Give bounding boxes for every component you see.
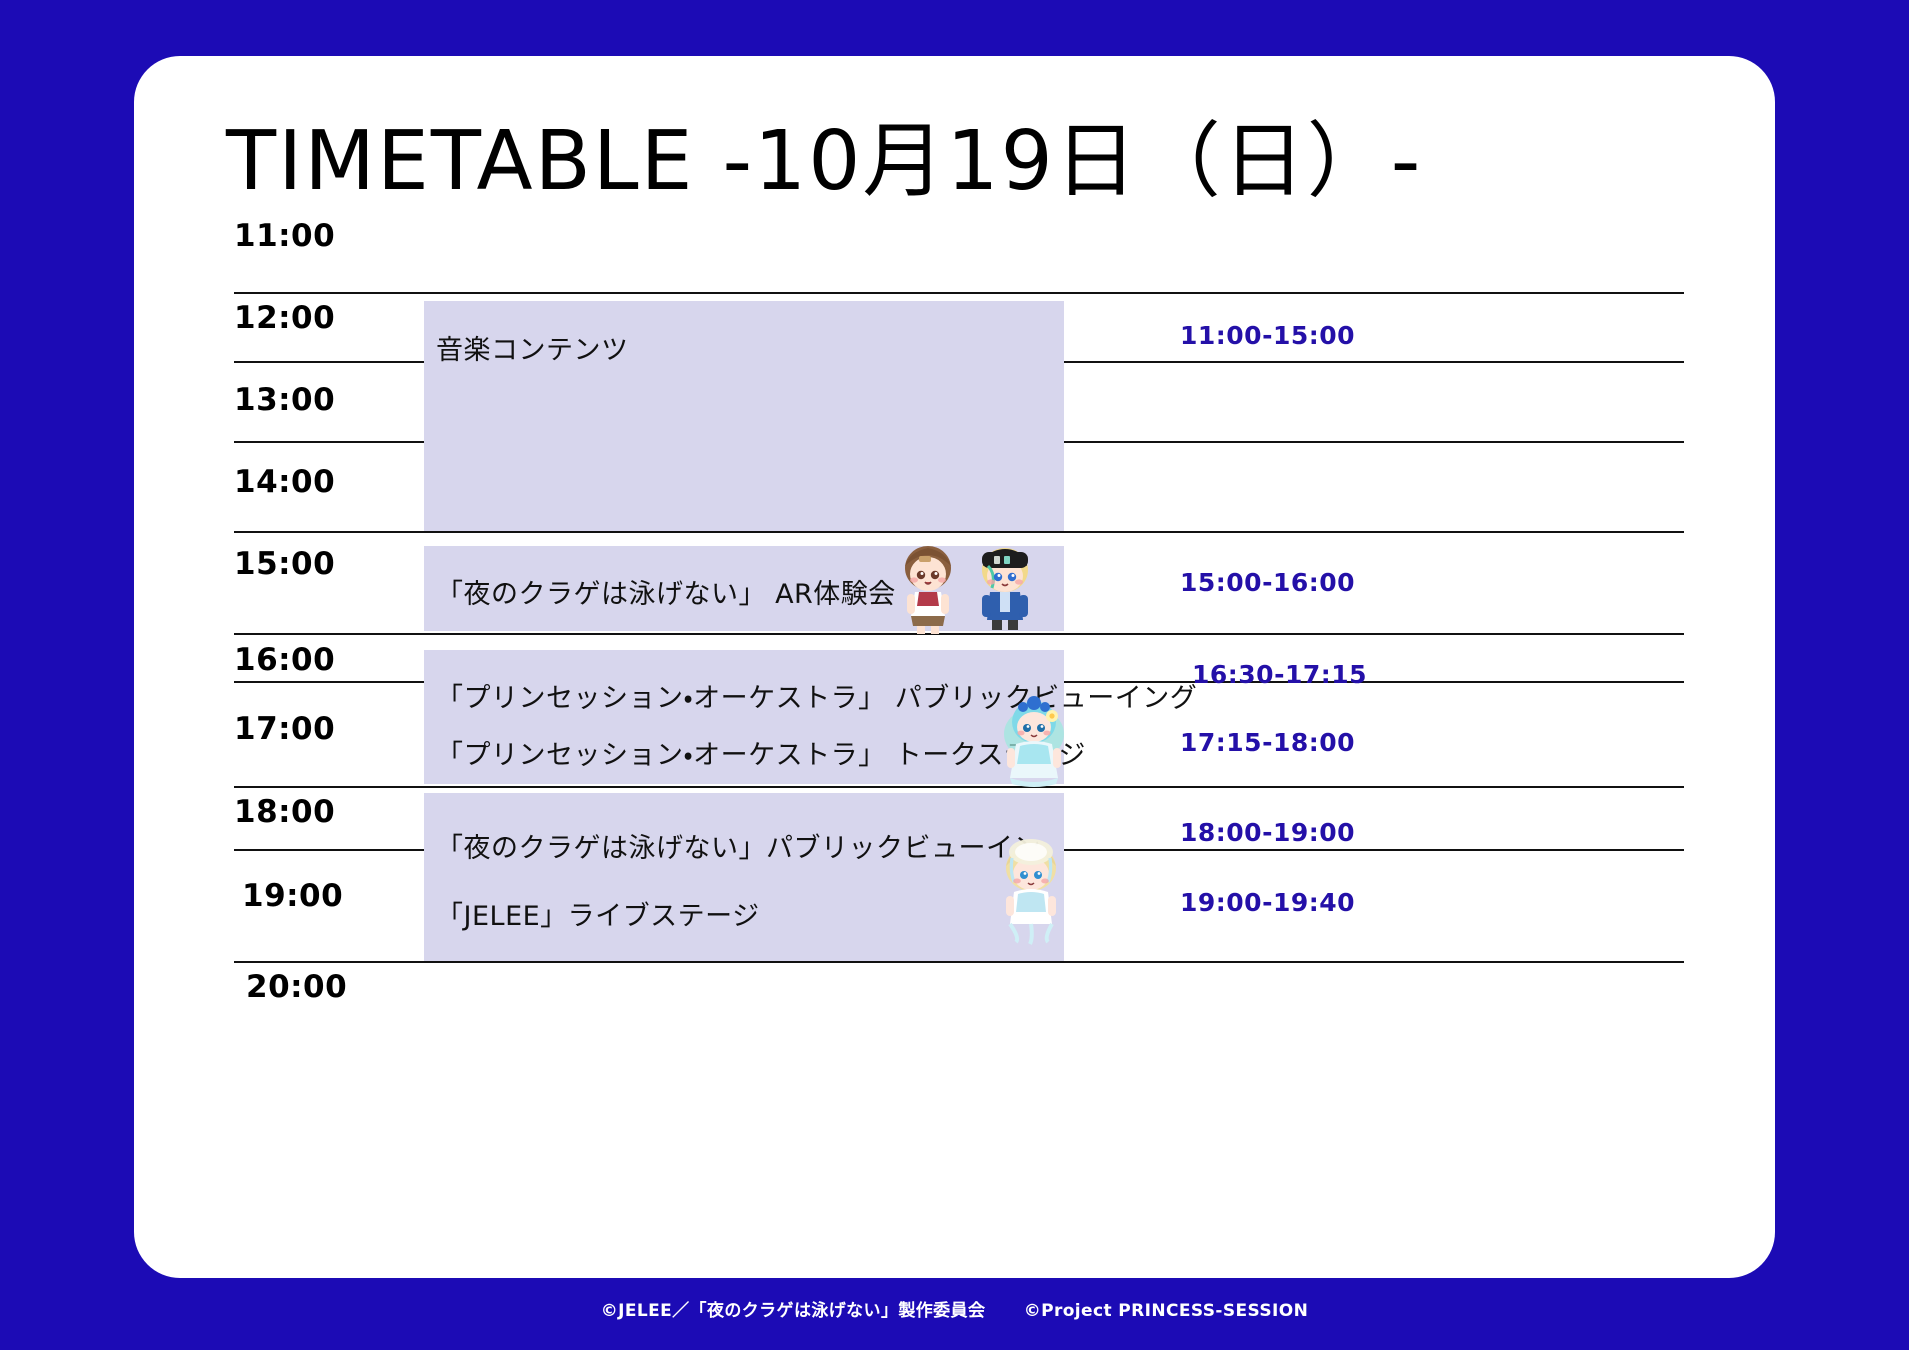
- grid-rule: [234, 786, 1684, 788]
- grid-rule: [234, 961, 1684, 963]
- event-label-yorukura-pv: 「夜のクラゲは泳げない」パブリックビューイン: [436, 826, 1041, 865]
- copyright-jelee: ©JELEE／「夜のクラゲは泳げない」製作委員会: [601, 1301, 986, 1321]
- event-time-princession-pv: 16:30-17:15: [1192, 660, 1367, 689]
- hour-label-1300: 13:00: [234, 382, 335, 418]
- footer-copyright: ©JELEE／「夜のクラゲは泳げない」製作委員会 ©Project PRINCE…: [0, 1296, 1909, 1321]
- grid-rule: [234, 361, 424, 363]
- event-label-princession-talk: 「プリンセッション・オーケストラ」 トークステージ: [436, 733, 1086, 772]
- hour-label-1400: 14:00: [234, 464, 335, 500]
- hour-label-1200: 12:00: [234, 300, 335, 336]
- copyright-princess-session: ©Project PRINCESS-SESSION: [1024, 1301, 1309, 1321]
- event-time-princession-talk: 17:15-18:00: [1180, 728, 1355, 757]
- hour-label-1800: 18:00: [234, 794, 335, 830]
- jellyfish-chibi-icon: [992, 838, 1070, 948]
- event-label-ar: 「夜のクラゲは泳げない」 AR体験会: [436, 572, 896, 611]
- hour-label-1100: 11:00: [234, 218, 335, 254]
- event-label-princession-pv: 「プリンセッション・オーケストラ」 パブリックビューイング: [436, 676, 1197, 715]
- mahiru-chibi-icon: [889, 542, 967, 634]
- event-time-yorukura-pv: 18:00-19:00: [1180, 818, 1355, 847]
- grid-rule: [1064, 849, 1684, 851]
- event-label-jelee-live: 「JELEE」ライブステージ: [436, 894, 760, 933]
- hour-label-1600: 16:00: [234, 642, 335, 678]
- timetable-grid: 11:00 12:00 13:00 14:00 15:00 16:00 17:0…: [134, 56, 1775, 1278]
- grid-rule: [234, 531, 1684, 533]
- event-label-music: 音楽コンテンツ: [436, 328, 629, 367]
- hour-label-2000: 20:00: [246, 969, 347, 1005]
- grid-rule: [1064, 441, 1684, 443]
- hour-label-1900: 19:00: [242, 878, 343, 914]
- princession-chibi-icon: [996, 694, 1072, 790]
- event-time-music: 11:00-15:00: [1180, 321, 1355, 350]
- grid-rule: [234, 681, 424, 683]
- grid-rule: [1064, 361, 1684, 363]
- event-time-jelee-live: 19:00-19:40: [1180, 888, 1355, 917]
- event-time-ar: 15:00-16:00: [1180, 568, 1355, 597]
- grid-rule: [234, 849, 424, 851]
- kano-chibi-icon: [966, 542, 1044, 634]
- hour-label-1500: 15:00: [234, 546, 335, 582]
- timetable-card: TIMETABLE -10月19日（日）- 11:00 12:00 13:00 …: [134, 56, 1775, 1278]
- hour-label-1700: 17:00: [234, 711, 335, 747]
- event-block-jelee[interactable]: [424, 793, 1064, 961]
- grid-rule: [234, 441, 424, 443]
- grid-rule: [234, 292, 1684, 294]
